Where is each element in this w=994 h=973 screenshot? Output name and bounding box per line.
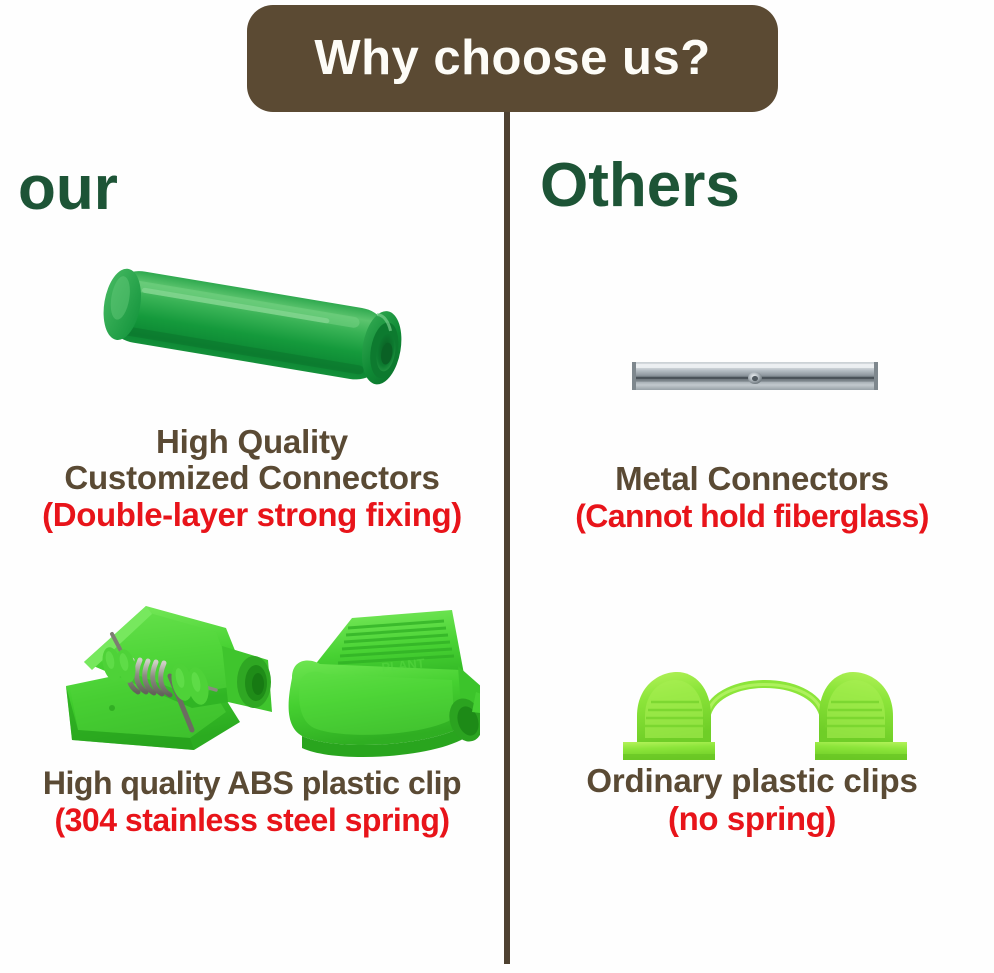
caption-sub: (Double-layer strong fixing) bbox=[0, 497, 504, 533]
caption-clips-other: Ordinary plastic clips (no spring) bbox=[510, 763, 994, 836]
column-others: Others bbox=[510, 0, 994, 973]
caption-main-line1: High quality ABS plastic clip bbox=[0, 766, 504, 801]
caption-connectors-our: High Quality Customized Connectors (Doub… bbox=[0, 424, 504, 533]
caption-sub: (no spring) bbox=[510, 801, 994, 837]
column-heading-others: Others bbox=[540, 155, 740, 217]
green-plastic-tube-connector-image bbox=[70, 262, 450, 430]
ordinary-light-green-plastic-clips-image bbox=[615, 650, 915, 770]
caption-main-line1: Ordinary plastic clips bbox=[510, 763, 994, 799]
metal-tube-connector-image bbox=[630, 340, 880, 410]
caption-main-line2: Customized Connectors bbox=[0, 460, 504, 496]
column-divider bbox=[504, 100, 510, 964]
header-banner: Why choose us? bbox=[247, 5, 778, 112]
caption-clips-our: High quality ABS plastic clip (304 stain… bbox=[0, 766, 504, 837]
page-title: Why choose us? bbox=[314, 34, 710, 83]
caption-main-line1: High Quality bbox=[0, 424, 504, 460]
caption-main-line1: Metal Connectors bbox=[510, 461, 994, 497]
green-abs-plastic-clips-with-spring-image: PLANT bbox=[40, 590, 480, 770]
column-heading-our: our bbox=[18, 158, 118, 220]
caption-sub: (Cannot hold fiberglass) bbox=[510, 499, 994, 534]
caption-sub: (304 stainless steel spring) bbox=[0, 803, 504, 838]
column-our: our bbox=[0, 0, 504, 973]
caption-connectors-other: Metal Connectors (Cannot hold fiberglass… bbox=[510, 461, 994, 533]
